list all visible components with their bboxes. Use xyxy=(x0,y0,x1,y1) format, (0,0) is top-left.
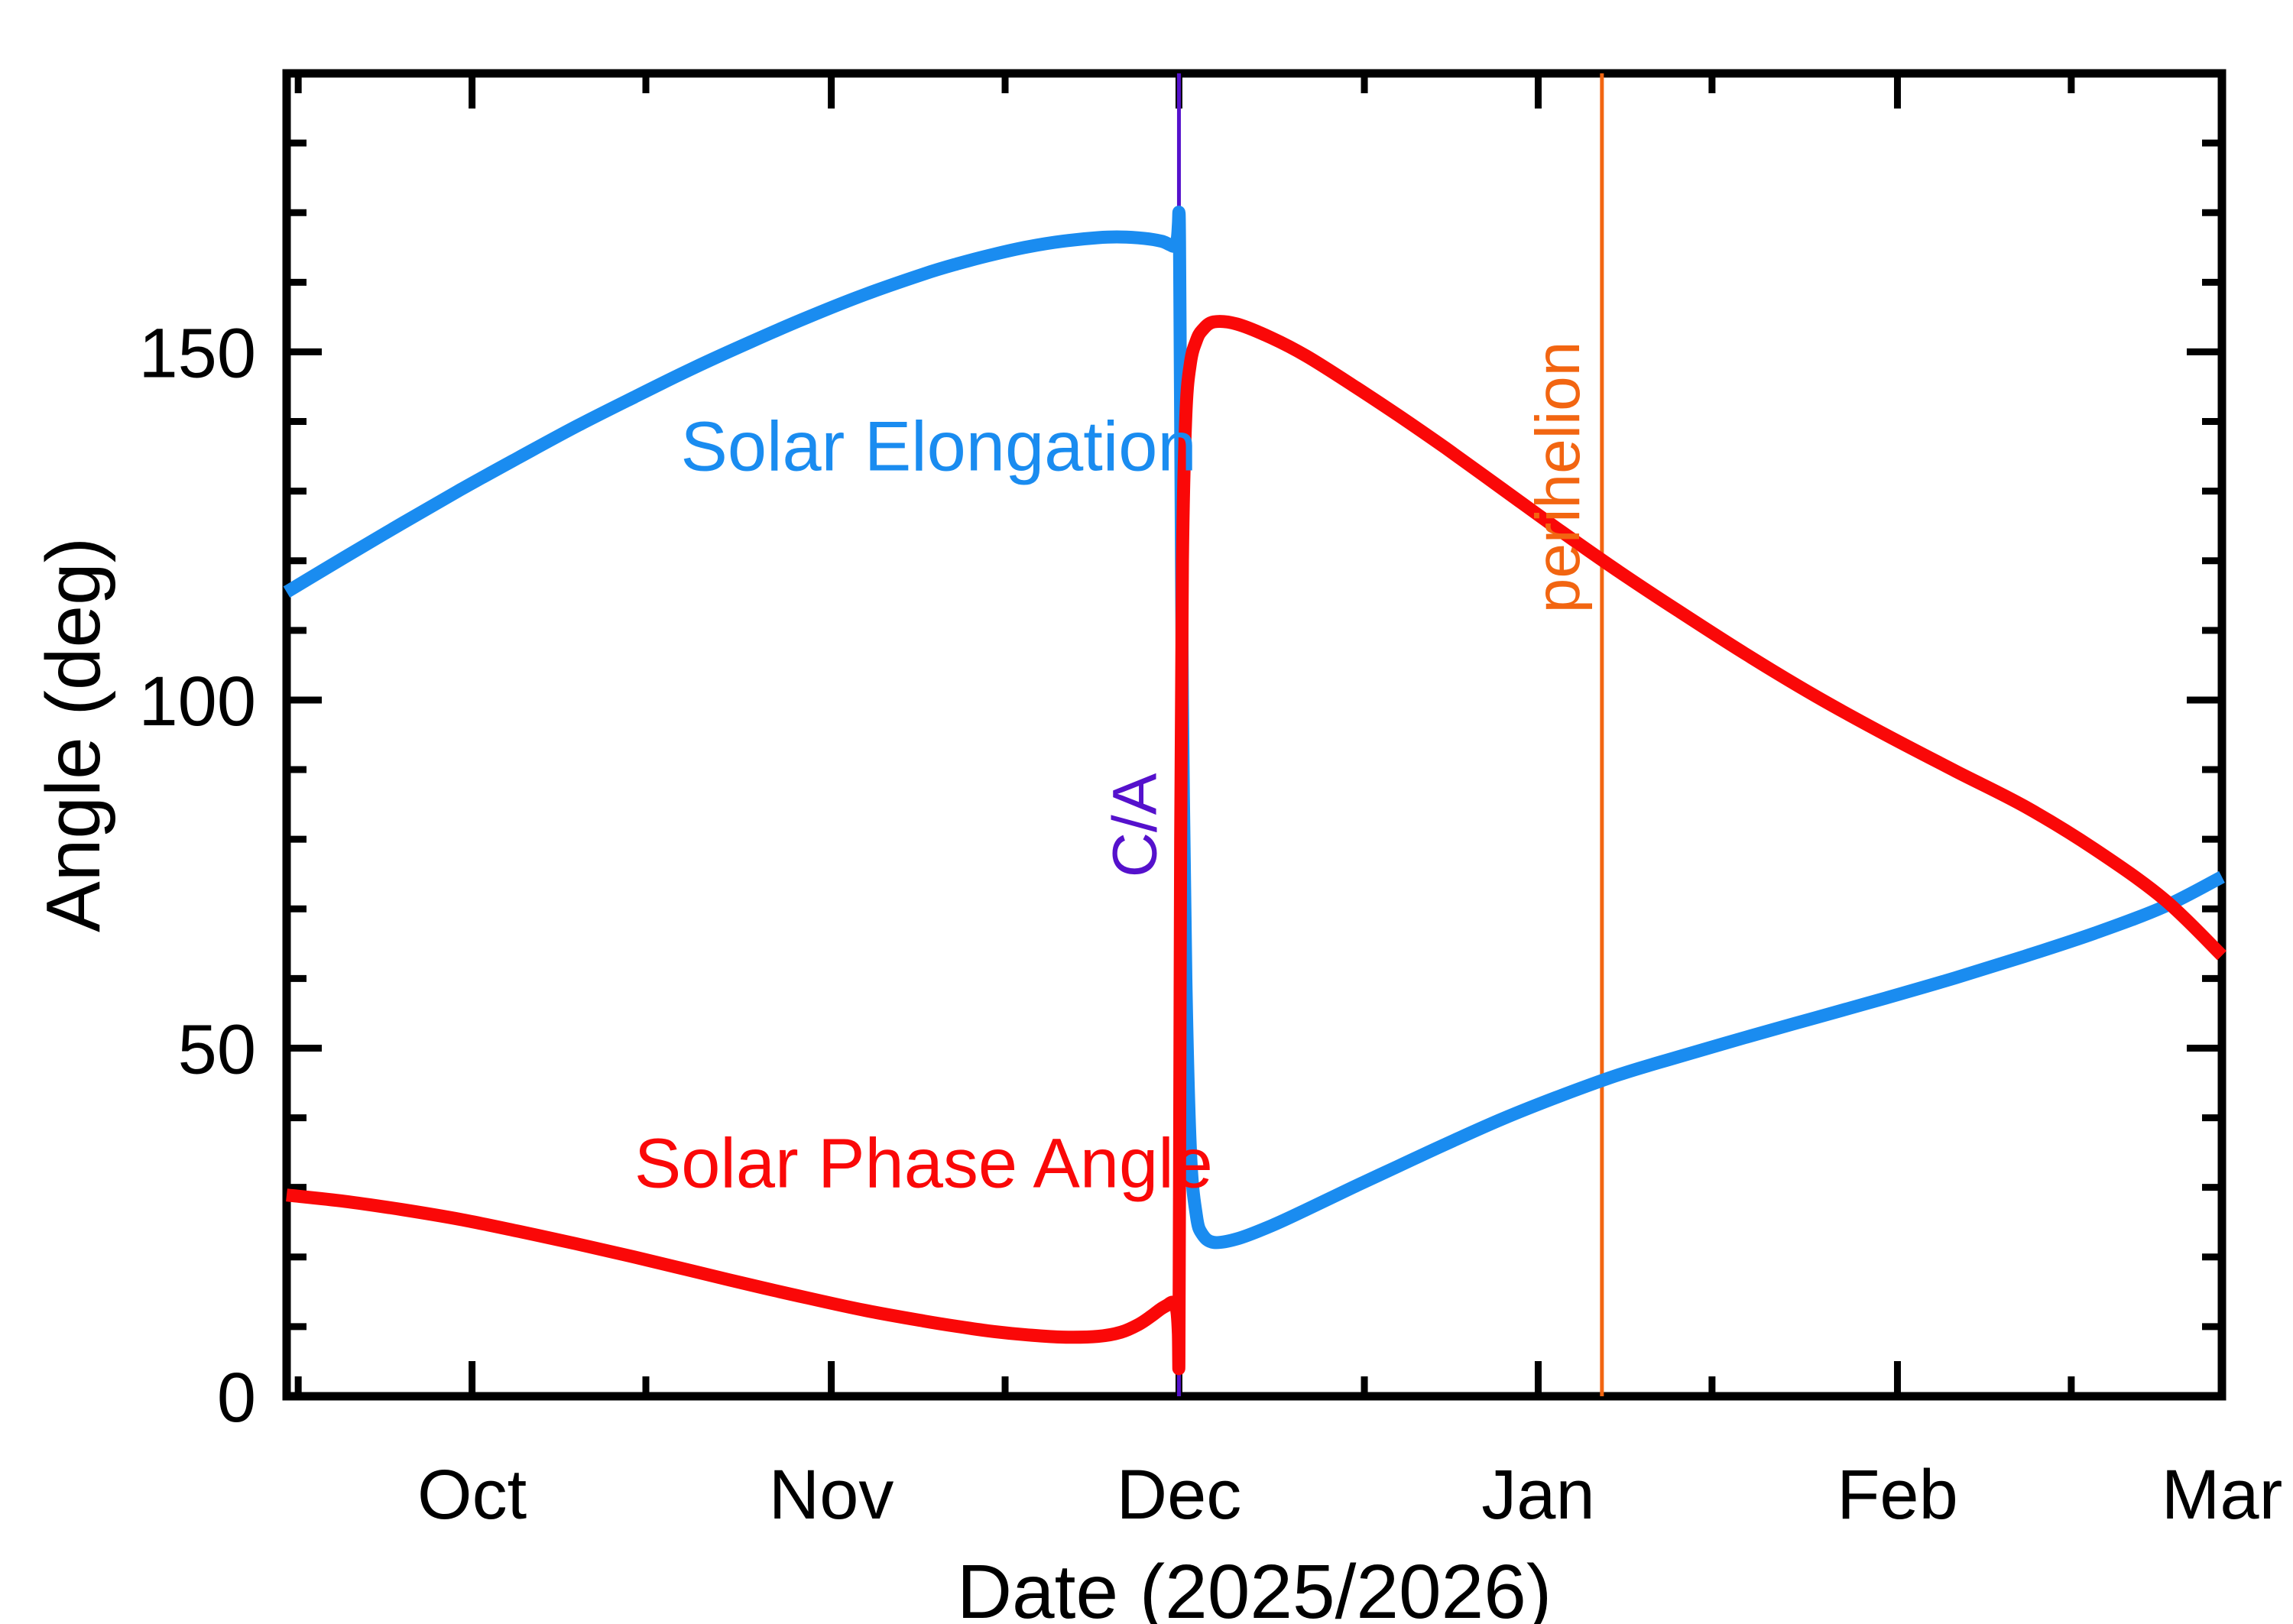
event-markers xyxy=(1179,73,1601,1396)
chart-figure: OctNovDecJanFebMar050100150Angle (deg)Da… xyxy=(0,0,2293,1624)
plot-frame xyxy=(287,73,2222,1396)
series-label-solar-elongation: Solar Elongation xyxy=(680,407,1196,485)
y-tick-label: 0 xyxy=(217,1359,256,1437)
event-label-close-approach: C/A xyxy=(1100,773,1169,877)
x-tick-label: Nov xyxy=(769,1456,894,1534)
data-series xyxy=(287,212,2222,1369)
series-path-solar-phase-angle xyxy=(287,322,2222,1369)
axis-ticks xyxy=(287,73,2222,1396)
series-path-solar-elongation xyxy=(287,212,2222,1243)
y-tick-label: 50 xyxy=(178,1010,256,1088)
series-label-solar-phase-angle: Solar Phase Angle xyxy=(634,1125,1213,1203)
x-tick-label: Oct xyxy=(417,1456,527,1534)
plot-axes xyxy=(287,73,2222,1396)
y-tick-label: 150 xyxy=(139,314,257,392)
x-axis-title-text: Date (2025/2026) xyxy=(957,1549,1552,1624)
x-tick-label: Feb xyxy=(1837,1456,1958,1534)
event-label-perihelion: perihelion xyxy=(1523,342,1593,614)
x-tick-label: Dec xyxy=(1117,1456,1242,1534)
y-tick-label: 100 xyxy=(139,663,257,741)
chart-canvas: OctNovDecJanFebMar050100150Angle (deg)Da… xyxy=(0,0,2293,1624)
y-axis-title-text: Angle (deg) xyxy=(31,537,116,932)
chart-text-labels: OctNovDecJanFebMar050100150Angle (deg)Da… xyxy=(31,314,2282,1624)
x-tick-label: Jan xyxy=(1481,1456,1594,1534)
x-tick-label: Mar xyxy=(2162,1456,2282,1534)
